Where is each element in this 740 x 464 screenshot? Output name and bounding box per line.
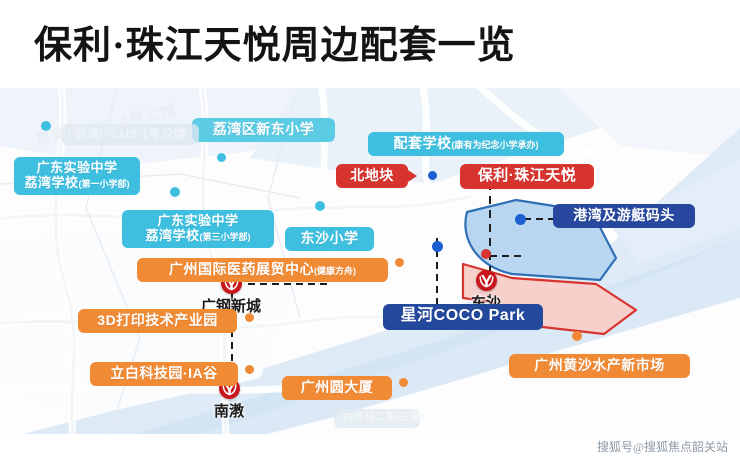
map-label-line2: 荔湾学校(第一小学部) xyxy=(23,176,131,191)
poi-dot-dot-cocopark[interactable] xyxy=(432,241,443,252)
map-label-gangwan-youting-matou[interactable]: 港湾及游艇码头 xyxy=(553,204,695,228)
map-label-libai-kejiyuan[interactable]: 立白科技园·IA谷 xyxy=(90,362,238,386)
metro-station-label: 南漖 xyxy=(189,400,269,421)
poi-dot-dot-shiyan-disan[interactable] xyxy=(170,187,180,197)
map-infographic-page: 广钢新城南漖东沙 广东实验中学荔湾学校(第一小学部)荔湾区新东小学配套学校(康有… xyxy=(0,0,740,464)
map-label-3d-dayin-chanyeyuan[interactable]: 3D打印技术产业园 xyxy=(78,309,237,333)
map-label-line1: 港湾及游艇码头 xyxy=(561,207,687,224)
metro-logo-icon xyxy=(476,270,497,291)
poi-dot-dot-huangsha[interactable] xyxy=(572,331,582,341)
poi-dot-dot-dongsha-xx[interactable] xyxy=(315,201,325,211)
poi-dot-dot-gangwan[interactable] xyxy=(515,214,526,225)
map-label-line1: 3D打印技术产业园 xyxy=(86,312,229,329)
map-label-line1: 广东实验中学 xyxy=(131,214,265,229)
map-label-subtext: (健康方舟) xyxy=(314,266,356,276)
poi-dot-dot-yiyao[interactable] xyxy=(395,258,404,267)
map-label-liwan-xindong-xiaoxue[interactable]: 荔湾区新东小学 xyxy=(192,118,335,142)
map-label-line2: 荔湾学校(第三小学部) xyxy=(131,229,265,244)
map-label-guangzhou-yuan-dasha[interactable]: 广州圆大厦 xyxy=(282,376,392,400)
map-label-beidikuai[interactable]: 北地块 xyxy=(336,164,408,188)
poi-dot-dot-site-red[interactable] xyxy=(481,249,491,259)
map-label-dongsha-xiaoxue[interactable]: 东沙小学 xyxy=(285,227,374,251)
map-label-subtext: (第三小学部) xyxy=(200,232,251,242)
map-label-yiyao-zhanmao-zhongxin[interactable]: 广州国际医药展贸中心(健康方舟) xyxy=(137,258,388,282)
map-label-pointer-tail xyxy=(408,170,417,182)
map-label-faded-label-bottom[interactable]: 22号线二期(在建) xyxy=(334,409,420,428)
map-label-line1: 广州黄沙水产新市场 xyxy=(517,357,682,374)
poi-dot-dot-shiyan-diyi[interactable] xyxy=(41,121,51,131)
map-label-guangdong-shiyan-diyi[interactable]: 广东实验中学荔湾学校(第一小学部) xyxy=(14,157,140,195)
map-label-line1: 广州圆大厦 xyxy=(290,379,384,396)
map-label-faded-label-topleft[interactable]: 荔湾IPLUS 1号公馆 xyxy=(62,124,199,145)
map-label-subtext: (第一小学部) xyxy=(79,179,130,189)
map-label-line1: 荔湾区新东小学 xyxy=(200,121,327,138)
map-label-baoli-zhujiang-tianyue[interactable]: 保利·珠江天悦 xyxy=(460,164,594,189)
map-label-xinghe-coco-park[interactable]: 星河COCO Park xyxy=(383,304,543,330)
map-label-line1: 立白科技园·IA谷 xyxy=(98,365,230,382)
map-label-line1: 22号线二期(在建) xyxy=(342,412,412,424)
map-label-line1: 广州国际医药展贸中心(健康方舟) xyxy=(145,261,380,278)
map-label-line1: 保利·珠江天悦 xyxy=(468,167,586,185)
poi-dot-dot-yuan-dasha[interactable] xyxy=(399,378,408,387)
poi-dot-dot-xindong[interactable] xyxy=(217,153,226,162)
map-label-line1: 荔湾IPLUS 1号公馆 xyxy=(70,127,191,141)
map-canvas[interactable]: 广钢新城南漖东沙 广东实验中学荔湾学校(第一小学部)荔湾区新东小学配套学校(康有… xyxy=(0,88,740,464)
map-label-line1: 广东实验中学 xyxy=(23,161,131,176)
poi-dot-dot-libai[interactable] xyxy=(245,365,254,374)
page-title: 保利·珠江天悦周边配套一览 xyxy=(34,14,516,69)
poi-dot-dot-beidikuai[interactable] xyxy=(428,171,437,180)
map-label-line1: 星河COCO Park xyxy=(391,307,535,326)
map-label-subtext: (康有为纪念小学承办) xyxy=(452,140,539,150)
map-label-guangdong-shiyan-disan[interactable]: 广东实验中学荔湾学校(第三小学部) xyxy=(122,210,274,248)
title-bar: 保利·珠江天悦周边配套一览 xyxy=(0,0,740,88)
map-label-line1: 北地块 xyxy=(344,167,400,184)
map-label-line1: 配套学校(康有为纪念小学承办) xyxy=(376,135,556,152)
map-label-line2-main: 荔湾学校 xyxy=(24,175,78,190)
map-label-line2-main: 荔湾学校 xyxy=(145,228,199,243)
map-label-line1: 东沙小学 xyxy=(293,230,366,247)
map-label-peitao-xuexiao[interactable]: 配套学校(康有为纪念小学承办) xyxy=(368,132,564,156)
source-credit: 搜狐号@搜狐焦点韶关站 xyxy=(597,438,728,455)
map-label-huangsha-shuichan[interactable]: 广州黄沙水产新市场 xyxy=(509,354,690,378)
